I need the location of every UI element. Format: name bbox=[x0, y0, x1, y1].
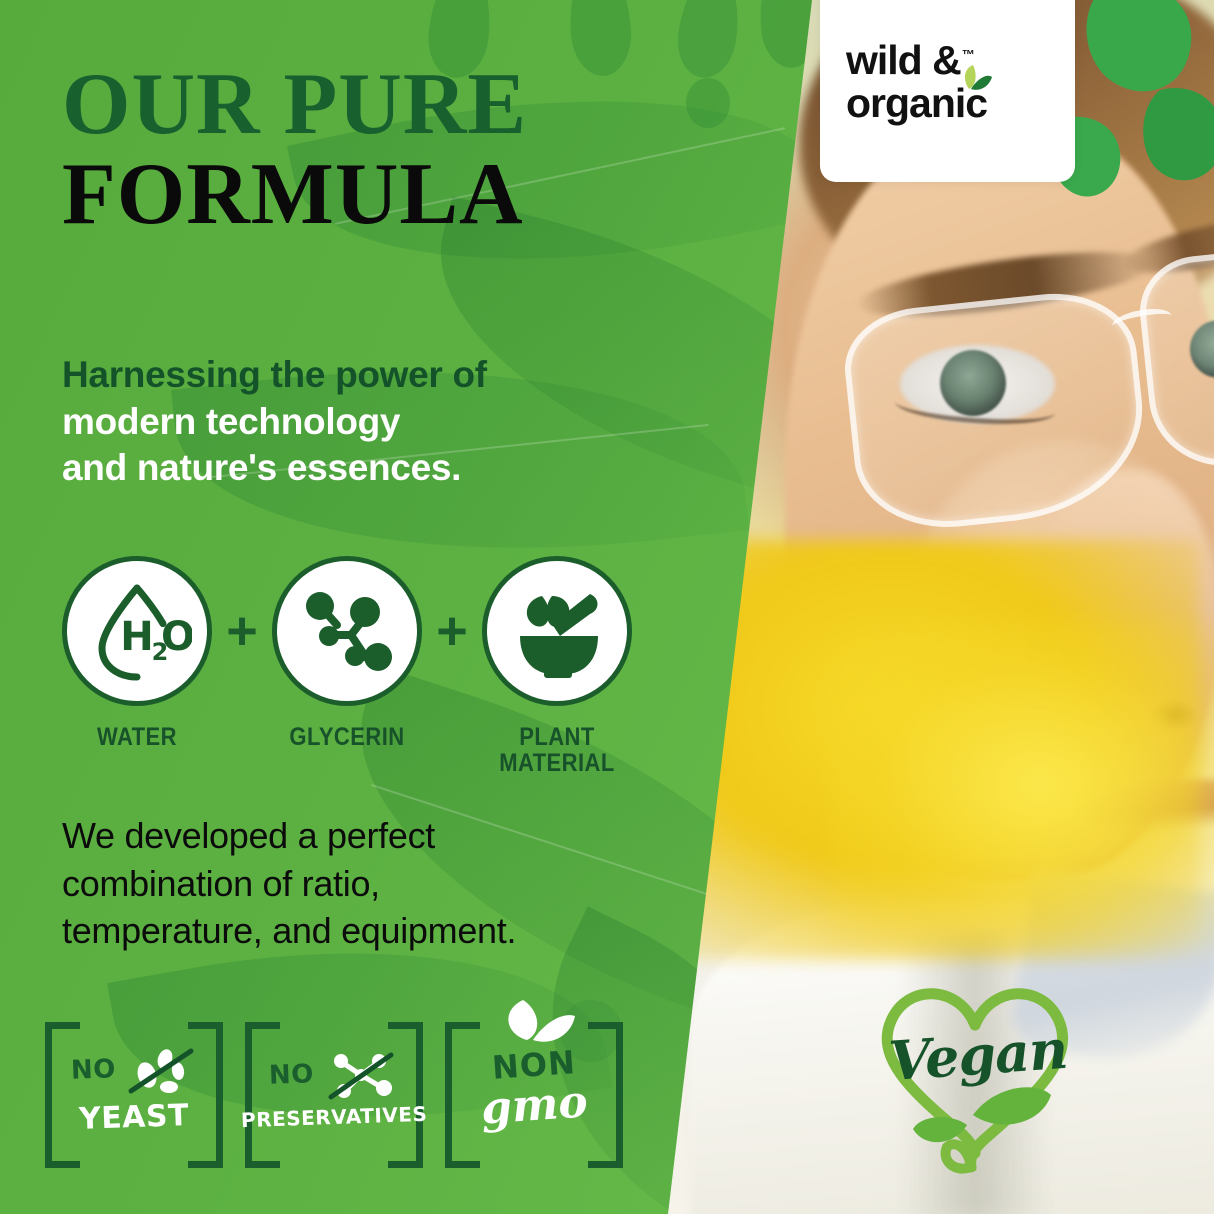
logo-line-2: organic bbox=[846, 83, 987, 124]
ingredient-label-plant-line2: MATERIAL bbox=[491, 750, 623, 776]
badge-prefix: NO bbox=[70, 1054, 116, 1086]
ingredient-circle-plant[interactable] bbox=[482, 556, 632, 706]
intro-text: Harnessing the power of modern technolog… bbox=[62, 352, 662, 492]
preservatives-crossed-out-icon bbox=[319, 1049, 399, 1101]
ingredient-circle-glycerin[interactable] bbox=[272, 556, 422, 706]
paragraph-line-1: We developed a perfect bbox=[62, 812, 662, 860]
plus-separator-2: + bbox=[422, 604, 482, 658]
svg-text:H: H bbox=[120, 614, 153, 660]
water-drop-h2o-icon: H 2 O bbox=[82, 576, 192, 686]
ingredient-label-plant: PLANT MATERIAL bbox=[491, 724, 623, 777]
plus-separator-1: + bbox=[212, 604, 272, 658]
label-gap-2 bbox=[422, 724, 482, 777]
badge-no-preservatives[interactable]: NO bbox=[245, 1022, 423, 1154]
badge-non-gmo[interactable]: NON gmo bbox=[445, 1022, 623, 1154]
paragraph-line-2: combination of ratio, bbox=[62, 860, 662, 908]
intro-line-2: modern technology bbox=[62, 399, 662, 446]
intro-line-1: Harnessing the power of bbox=[62, 352, 662, 399]
ingredients-section: H 2 O + bbox=[62, 556, 682, 777]
badge-no-yeast[interactable]: NO YEAST bbox=[45, 1022, 223, 1154]
infographic-canvas: wild &™ organic OUR PURE FORMULA Harness… bbox=[0, 0, 1214, 1214]
brand-logo[interactable]: wild &™ organic bbox=[820, 0, 1075, 182]
ingredients-label-row: WATER GLYCERIN PLANT MATERIAL bbox=[62, 724, 682, 777]
headline-line-2: FORMULA bbox=[62, 148, 742, 241]
logo-wild-text: wild & bbox=[846, 37, 961, 83]
paragraph-line-3: temperature, and equipment. bbox=[62, 907, 662, 955]
headline-line-1: OUR PURE bbox=[62, 62, 742, 148]
mortar-pestle-plant-icon bbox=[504, 578, 610, 684]
badge-content: NO bbox=[245, 1022, 423, 1154]
badge-top-row: NO bbox=[45, 1042, 223, 1098]
certification-badges: NO YEAST NO bbox=[45, 1022, 645, 1154]
yeast-crossed-out-icon bbox=[121, 1045, 197, 1095]
svg-text:O: O bbox=[161, 614, 192, 660]
badge-prefix: NO bbox=[268, 1059, 314, 1091]
page-title: OUR PURE FORMULA bbox=[62, 62, 742, 242]
glycerin-molecule-icon bbox=[293, 577, 401, 685]
ingredient-circle-water[interactable]: H 2 O bbox=[62, 556, 212, 706]
badge-word: gmo bbox=[479, 1076, 589, 1134]
badge-top-row: NO bbox=[245, 1047, 423, 1103]
badge-content: NON gmo bbox=[445, 1022, 623, 1154]
intro-line-3: and nature's essences. bbox=[62, 445, 662, 492]
badge-word: PRESERVATIVES bbox=[240, 1102, 427, 1132]
label-gap-1 bbox=[212, 724, 272, 777]
ingredient-label-glycerin: GLYCERIN bbox=[281, 724, 413, 777]
vegan-badge[interactable]: Vegan bbox=[855, 965, 1095, 1180]
badge-word: YEAST bbox=[78, 1098, 189, 1137]
ingredients-icon-row: H 2 O + bbox=[62, 556, 682, 706]
badge-content: NO YEAST bbox=[45, 1022, 223, 1154]
photo-yellow-highlight bbox=[830, 620, 1214, 950]
ingredient-label-water: WATER bbox=[71, 724, 203, 777]
ingredient-label-plant-line1: PLANT bbox=[491, 724, 623, 750]
vegan-label: Vegan bbox=[881, 1016, 1075, 1093]
description-paragraph: We developed a perfect combination of ra… bbox=[62, 812, 662, 955]
logo-leaf-icon bbox=[947, 61, 993, 91]
